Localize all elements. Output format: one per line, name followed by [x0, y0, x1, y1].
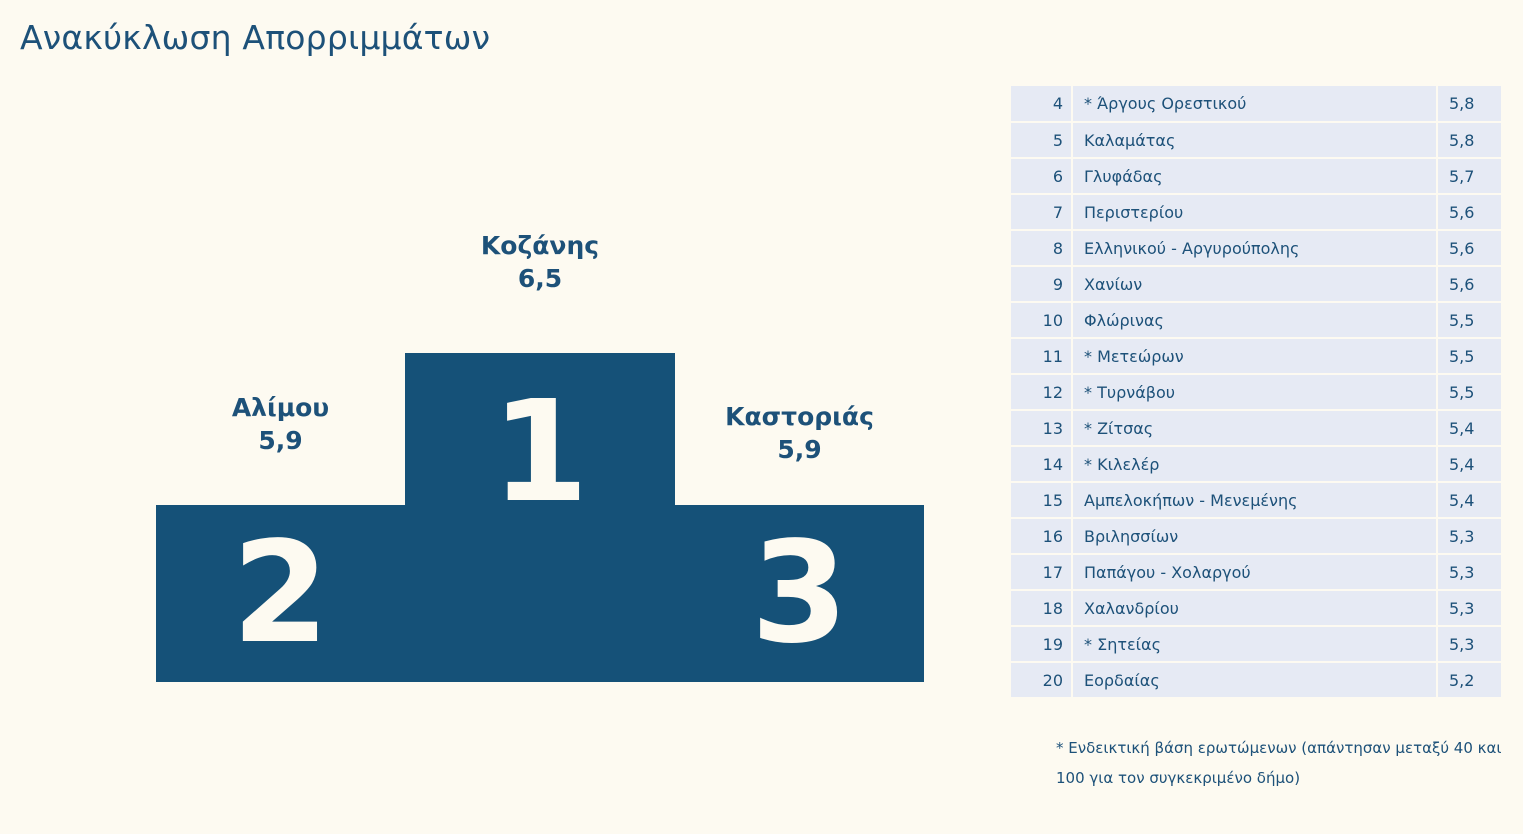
table-cell-value: 5,3 [1437, 590, 1501, 626]
table-cell-value: 5,8 [1437, 86, 1501, 122]
table-cell-value: 5,3 [1437, 554, 1501, 590]
table-row: 4* Άργους Ορεστικού5,8 [1011, 86, 1501, 122]
table-row: 8Ελληνικού - Αργυρούπολης5,6 [1011, 230, 1501, 266]
table-cell-value: 5,4 [1437, 482, 1501, 518]
table-cell-value: 5,6 [1437, 194, 1501, 230]
table-cell-value: 5,4 [1437, 410, 1501, 446]
podium-value-second: 5,9 [156, 424, 405, 457]
table-row: 20Εορδαίας5,2 [1011, 662, 1501, 698]
table-cell-rank: 19 [1011, 626, 1072, 662]
table-cell-name: Ελληνικού - Αργυρούπολης [1072, 230, 1437, 266]
podium-name-second: Αλίμου [156, 391, 405, 424]
table-cell-value: 5,8 [1437, 122, 1501, 158]
table-cell-name: Βριλησσίων [1072, 518, 1437, 554]
table-cell-rank: 7 [1011, 194, 1072, 230]
table-row: 12* Τυρνάβου5,5 [1011, 374, 1501, 410]
table-cell-rank: 15 [1011, 482, 1072, 518]
ranking-table: 4* Άργους Ορεστικού5,85Καλαμάτας5,86Γλυφ… [1011, 86, 1501, 699]
podium-block-first: 1 [405, 353, 675, 682]
table-row: 15Αμπελοκήπων - Μενεμένης5,4 [1011, 482, 1501, 518]
table-cell-name: Καλαμάτας [1072, 122, 1437, 158]
podium-name-third: Καστοριάς [675, 400, 924, 433]
table-cell-value: 5,6 [1437, 266, 1501, 302]
podium-value-first: 6,5 [405, 262, 675, 295]
podium-label-third: Καστοριάς 5,9 [675, 400, 924, 466]
table-cell-value: 5,4 [1437, 446, 1501, 482]
podium-block-third: 3 [675, 505, 924, 682]
table-cell-name: Φλώρινας [1072, 302, 1437, 338]
table-cell-rank: 8 [1011, 230, 1072, 266]
table-row: 5Καλαμάτας5,8 [1011, 122, 1501, 158]
table-row: 6Γλυφάδας5,7 [1011, 158, 1501, 194]
table-cell-name: * Μετεώρων [1072, 338, 1437, 374]
table-row: 7Περιστερίου5,6 [1011, 194, 1501, 230]
table-cell-rank: 16 [1011, 518, 1072, 554]
table-cell-name: * Ζίτσας [1072, 410, 1437, 446]
table-row: 13* Ζίτσας5,4 [1011, 410, 1501, 446]
table-cell-value: 5,5 [1437, 302, 1501, 338]
table-cell-rank: 6 [1011, 158, 1072, 194]
table-cell-value: 5,5 [1437, 338, 1501, 374]
table-cell-value: 5,6 [1437, 230, 1501, 266]
table-cell-name: Αμπελοκήπων - Μενεμένης [1072, 482, 1437, 518]
table-cell-name: * Σητείας [1072, 626, 1437, 662]
table-cell-name: * Άργους Ορεστικού [1072, 86, 1437, 122]
table-cell-rank: 9 [1011, 266, 1072, 302]
table-row: 10Φλώρινας5,5 [1011, 302, 1501, 338]
table-cell-rank: 12 [1011, 374, 1072, 410]
table-cell-value: 5,7 [1437, 158, 1501, 194]
podium-label-first: Κοζάνης 6,5 [405, 229, 675, 295]
table-row: 11* Μετεώρων5,5 [1011, 338, 1501, 374]
podium-name-first: Κοζάνης [405, 229, 675, 262]
table-row: 9Χανίων5,6 [1011, 266, 1501, 302]
table-cell-rank: 18 [1011, 590, 1072, 626]
footnote: * Ενδεικτική βάση ερωτώμενων (απάντησαν … [1056, 733, 1502, 793]
table-cell-name: Περιστερίου [1072, 194, 1437, 230]
podium-label-second: Αλίμου 5,9 [156, 391, 405, 457]
table-cell-rank: 13 [1011, 410, 1072, 446]
table-row: 19* Σητείας5,3 [1011, 626, 1501, 662]
table-cell-rank: 10 [1011, 302, 1072, 338]
table-row: 18Χαλανδρίου5,3 [1011, 590, 1501, 626]
podium-block-second: 2 [156, 505, 405, 682]
table-cell-value: 5,3 [1437, 626, 1501, 662]
ranking-table-body: 4* Άργους Ορεστικού5,85Καλαμάτας5,86Γλυφ… [1011, 86, 1501, 698]
table-row: 16Βριλησσίων5,3 [1011, 518, 1501, 554]
table-cell-value: 5,2 [1437, 662, 1501, 698]
table-cell-value: 5,5 [1437, 374, 1501, 410]
table-row: 14* Κιλελέρ5,4 [1011, 446, 1501, 482]
table-cell-name: * Κιλελέρ [1072, 446, 1437, 482]
table-row: 17Παπάγου - Χολαργού5,3 [1011, 554, 1501, 590]
table-cell-name: * Τυρνάβου [1072, 374, 1437, 410]
table-cell-rank: 5 [1011, 122, 1072, 158]
table-cell-name: Χαλανδρίου [1072, 590, 1437, 626]
table-cell-name: Χανίων [1072, 266, 1437, 302]
podium-chart: Κοζάνης 6,5 Αλίμου 5,9 Καστοριάς 5,9 2 3… [0, 0, 1000, 834]
podium-value-third: 5,9 [675, 433, 924, 466]
table-cell-name: Παπάγου - Χολαργού [1072, 554, 1437, 590]
table-cell-rank: 11 [1011, 338, 1072, 374]
table-cell-value: 5,3 [1437, 518, 1501, 554]
table-cell-rank: 14 [1011, 446, 1072, 482]
table-cell-rank: 20 [1011, 662, 1072, 698]
table-cell-rank: 17 [1011, 554, 1072, 590]
table-cell-name: Εορδαίας [1072, 662, 1437, 698]
table-cell-rank: 4 [1011, 86, 1072, 122]
table-cell-name: Γλυφάδας [1072, 158, 1437, 194]
